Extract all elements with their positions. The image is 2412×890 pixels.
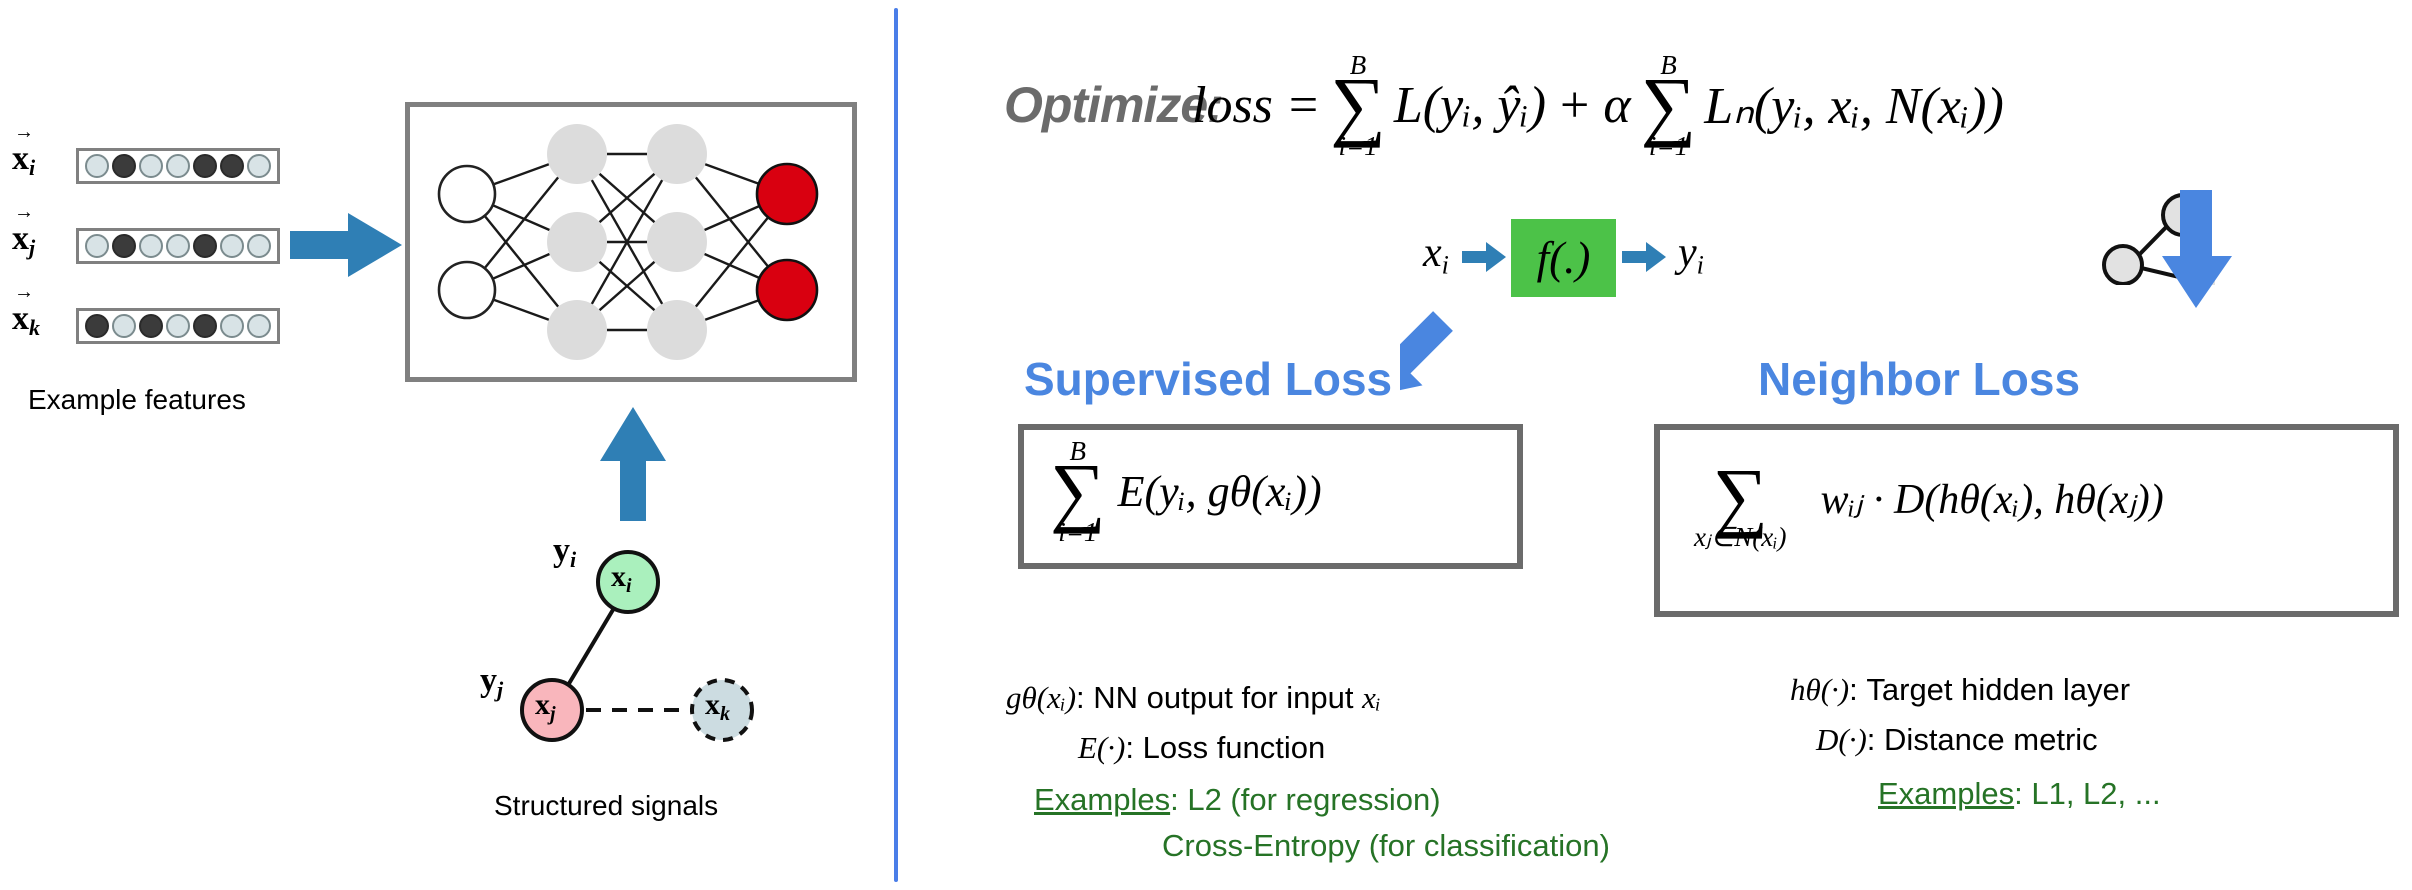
legend-text: NN output for input bbox=[1093, 680, 1353, 715]
sum-lower-limit: i=1 bbox=[1050, 519, 1106, 546]
nn-edge bbox=[493, 164, 548, 184]
sigma-icon: ∑ bbox=[1641, 73, 1697, 137]
equation-alpha: α bbox=[1603, 76, 1630, 135]
nn-edge bbox=[493, 205, 550, 230]
feature-cell-dark bbox=[193, 234, 217, 258]
feature-cell-light bbox=[166, 314, 190, 338]
supervised-examples-line-1: Examples: L2 (for regression) bbox=[1034, 782, 1441, 818]
feature-label-j: → xj bbox=[12, 208, 35, 261]
supervised-loss-formula: B ∑ i=1 E(yᵢ, gθ(xᵢ)) bbox=[1024, 430, 1517, 546]
neural-network-graph bbox=[405, 102, 857, 382]
supervised-legend-row-2: E(·): Loss function bbox=[1078, 730, 1325, 766]
equation-equals: = bbox=[1289, 76, 1318, 135]
feature-label-base: x bbox=[12, 140, 29, 177]
supervised-legend-row-1: gθ(xᵢ): NN output for input xᵢ bbox=[1006, 680, 1381, 716]
pipeline-input-label: xi bbox=[1423, 229, 1449, 280]
examples-text: : L2 (for regression) bbox=[1170, 782, 1441, 817]
neighbor-loss-box: ∑ xⱼ∈N(xᵢ) wᵢⱼ · D(hθ(xᵢ), hθ(xⱼ)) bbox=[1654, 424, 2399, 617]
nn-edge bbox=[705, 164, 759, 183]
structured-signals-graph bbox=[490, 520, 780, 760]
feature-cell-light bbox=[166, 154, 190, 178]
graph-node-label-xj: xj bbox=[535, 688, 556, 726]
example-features-caption: Example features bbox=[28, 384, 246, 416]
supervised-examples-line-2: Cross-Entropy (for classification) bbox=[1162, 828, 1610, 864]
optimize-label: Optimize: bbox=[1004, 76, 1223, 134]
feature-cell-dark bbox=[85, 314, 109, 338]
nn-node-output bbox=[757, 164, 817, 224]
feature-vector-row bbox=[76, 148, 280, 184]
sum-lower-limit: i=1 bbox=[1330, 133, 1386, 160]
feature-cell-light bbox=[220, 314, 244, 338]
panel-divider bbox=[894, 8, 898, 882]
feature-label-base: x bbox=[12, 300, 29, 337]
function-box-label: f(.) bbox=[1537, 232, 1591, 284]
legend-text: Target hidden layer bbox=[1866, 672, 2130, 707]
legend-symbol: E(·) bbox=[1078, 730, 1125, 765]
vector-arrow-icon: → bbox=[14, 128, 35, 140]
feature-cell-light bbox=[220, 234, 244, 258]
neighbor-examples-line-1: Examples: L1, L2, ... bbox=[1878, 776, 2161, 812]
node-label-subscript: k bbox=[720, 703, 730, 725]
feature-label-base: x bbox=[12, 220, 29, 257]
node-label-subscript: j bbox=[550, 703, 556, 725]
feature-label-subscript: k bbox=[29, 315, 40, 340]
legend-text: Distance metric bbox=[1884, 722, 2098, 757]
supervised-loss-title: Supervised Loss bbox=[1024, 352, 1392, 406]
neighbor-loss-formula: ∑ xⱼ∈N(xᵢ) wᵢⱼ · D(hθ(xᵢ), hθ(xⱼ)) bbox=[1660, 430, 2393, 551]
examples-label: Examples bbox=[1034, 782, 1170, 817]
feature-cell-light bbox=[166, 234, 190, 258]
neighbor-formula-body: wᵢⱼ · D(hθ(xᵢ), hθ(xⱼ)) bbox=[1820, 474, 2163, 524]
equation-term-1: L(yᵢ, ŷᵢ) bbox=[1394, 76, 1546, 135]
summation: B ∑ i=1 bbox=[1050, 438, 1106, 546]
equation-lhs: loss bbox=[1192, 76, 1273, 135]
sigma-icon: ∑ bbox=[1330, 73, 1386, 137]
feature-label-i: → xi bbox=[12, 128, 35, 181]
feature-cell-light bbox=[247, 154, 271, 178]
node-label-base: x bbox=[705, 688, 720, 721]
nn-edge bbox=[493, 300, 548, 320]
legend-separator: : bbox=[1125, 730, 1134, 765]
nn-node-hidden1 bbox=[547, 212, 607, 272]
graph-node-label-xi: xi bbox=[611, 560, 632, 598]
sigma-icon: ∑ bbox=[1694, 464, 1786, 528]
feature-cell-light bbox=[85, 154, 109, 178]
feature-vector-row bbox=[76, 308, 280, 344]
pipeline-output-subscript: i bbox=[1697, 250, 1704, 279]
feature-cell-dark bbox=[112, 234, 136, 258]
legend-separator: : bbox=[1867, 722, 1876, 757]
nn-edge bbox=[705, 300, 759, 319]
up-arrow-icon bbox=[598, 405, 668, 525]
summation: ∑ xⱼ∈N(xᵢ) bbox=[1694, 448, 1786, 551]
nn-node-input bbox=[439, 262, 495, 318]
feature-cell-light bbox=[85, 234, 109, 258]
legend-tail: xᵢ bbox=[1362, 680, 1381, 715]
feature-vector-row bbox=[76, 228, 280, 264]
feature-cell-dark bbox=[139, 314, 163, 338]
nn-node-hidden2 bbox=[647, 124, 707, 184]
legend-text: Loss function bbox=[1143, 730, 1326, 765]
supervised-loss-box: B ∑ i=1 E(yᵢ, gθ(xᵢ)) bbox=[1018, 424, 1523, 569]
feature-label-subscript: i bbox=[29, 155, 35, 180]
feature-cell-light bbox=[139, 154, 163, 178]
graph-ylabel-yj: yj bbox=[480, 662, 503, 703]
node-label-subscript: i bbox=[626, 575, 632, 597]
nn-edge bbox=[493, 254, 550, 279]
pipeline-input-subscript: i bbox=[1442, 250, 1449, 279]
vector-arrow-icon: → bbox=[14, 288, 40, 300]
nn-node-output bbox=[757, 260, 817, 320]
summation-2: B ∑ i=1 bbox=[1641, 52, 1697, 160]
diagram-canvas: → xi → xj → xk Example features bbox=[0, 0, 2412, 890]
node-label-base: x bbox=[611, 560, 626, 593]
supervised-formula-body: E(yᵢ, gθ(xᵢ)) bbox=[1118, 466, 1322, 517]
ylabel-subscript: i bbox=[570, 547, 576, 572]
arrow-right-icon bbox=[1622, 240, 1668, 274]
legend-symbol: D(·) bbox=[1816, 722, 1867, 757]
graph-ylabel-yi: yi bbox=[553, 532, 576, 573]
legend-separator: : bbox=[1849, 672, 1858, 707]
feature-cell-dark bbox=[220, 154, 244, 178]
legend-symbol: gθ(xᵢ) bbox=[1006, 680, 1076, 715]
feature-cell-dark bbox=[193, 154, 217, 178]
main-loss-equation: loss = B ∑ i=1 L(yᵢ, ŷᵢ) + α B ∑ i=1 Lₙ(… bbox=[1192, 52, 2004, 160]
neighbor-legend-row-2: D(·): Distance metric bbox=[1816, 722, 2098, 758]
summation-1: B ∑ i=1 bbox=[1330, 52, 1386, 160]
feature-label-subscript: j bbox=[29, 235, 35, 260]
neighbor-legend-row-1: hθ(·): Target hidden layer bbox=[1790, 672, 2130, 708]
pipeline-input-base: x bbox=[1423, 230, 1442, 276]
nn-edge bbox=[704, 206, 759, 230]
structured-signals-caption: Structured signals bbox=[494, 790, 718, 822]
examples-label: Examples bbox=[1878, 776, 2014, 811]
nn-node-hidden2 bbox=[647, 300, 707, 360]
ylabel-base: y bbox=[480, 662, 497, 699]
nn-node-input bbox=[439, 166, 495, 222]
arrow-down-left-icon bbox=[1400, 285, 1600, 410]
ylabel-subscript: j bbox=[497, 677, 503, 702]
nn-edge bbox=[704, 254, 759, 278]
graph-node-label-xk: xk bbox=[705, 688, 730, 726]
arrow-down-icon bbox=[2162, 190, 2232, 310]
vector-arrow-icon: → bbox=[14, 208, 35, 220]
sum-lower-limit: xⱼ∈N(xᵢ) bbox=[1694, 524, 1786, 551]
sigma-icon: ∑ bbox=[1050, 459, 1106, 523]
feature-cell-dark bbox=[193, 314, 217, 338]
legend-symbol: hθ(·) bbox=[1790, 672, 1849, 707]
examples-text: : L1, L2, ... bbox=[2014, 776, 2160, 811]
feature-cell-light bbox=[112, 314, 136, 338]
equation-plus: + bbox=[1560, 76, 1589, 135]
feature-cell-light bbox=[247, 234, 271, 258]
legend-separator: : bbox=[1076, 680, 1085, 715]
feature-cell-light bbox=[247, 314, 271, 338]
pipeline-output-base: y bbox=[1678, 230, 1697, 276]
pipeline-output-label: yi bbox=[1678, 229, 1704, 280]
equation-term-2: Lₙ(yᵢ, xᵢ, N(xᵢ)) bbox=[1704, 76, 2004, 136]
arrow-right-icon bbox=[1462, 240, 1508, 274]
right-arrow-icon bbox=[290, 205, 410, 285]
nn-node-hidden1 bbox=[547, 300, 607, 360]
sum-lower-limit: i=1 bbox=[1641, 133, 1697, 160]
feature-cell-light bbox=[139, 234, 163, 258]
feature-cell-dark bbox=[112, 154, 136, 178]
nn-node-hidden1 bbox=[547, 124, 607, 184]
feature-label-k: → xk bbox=[12, 288, 40, 341]
ylabel-base: y bbox=[553, 532, 570, 569]
neighbor-loss-title: Neighbor Loss bbox=[1758, 352, 2080, 406]
nn-node-hidden2 bbox=[647, 212, 707, 272]
node-label-base: x bbox=[535, 688, 550, 721]
